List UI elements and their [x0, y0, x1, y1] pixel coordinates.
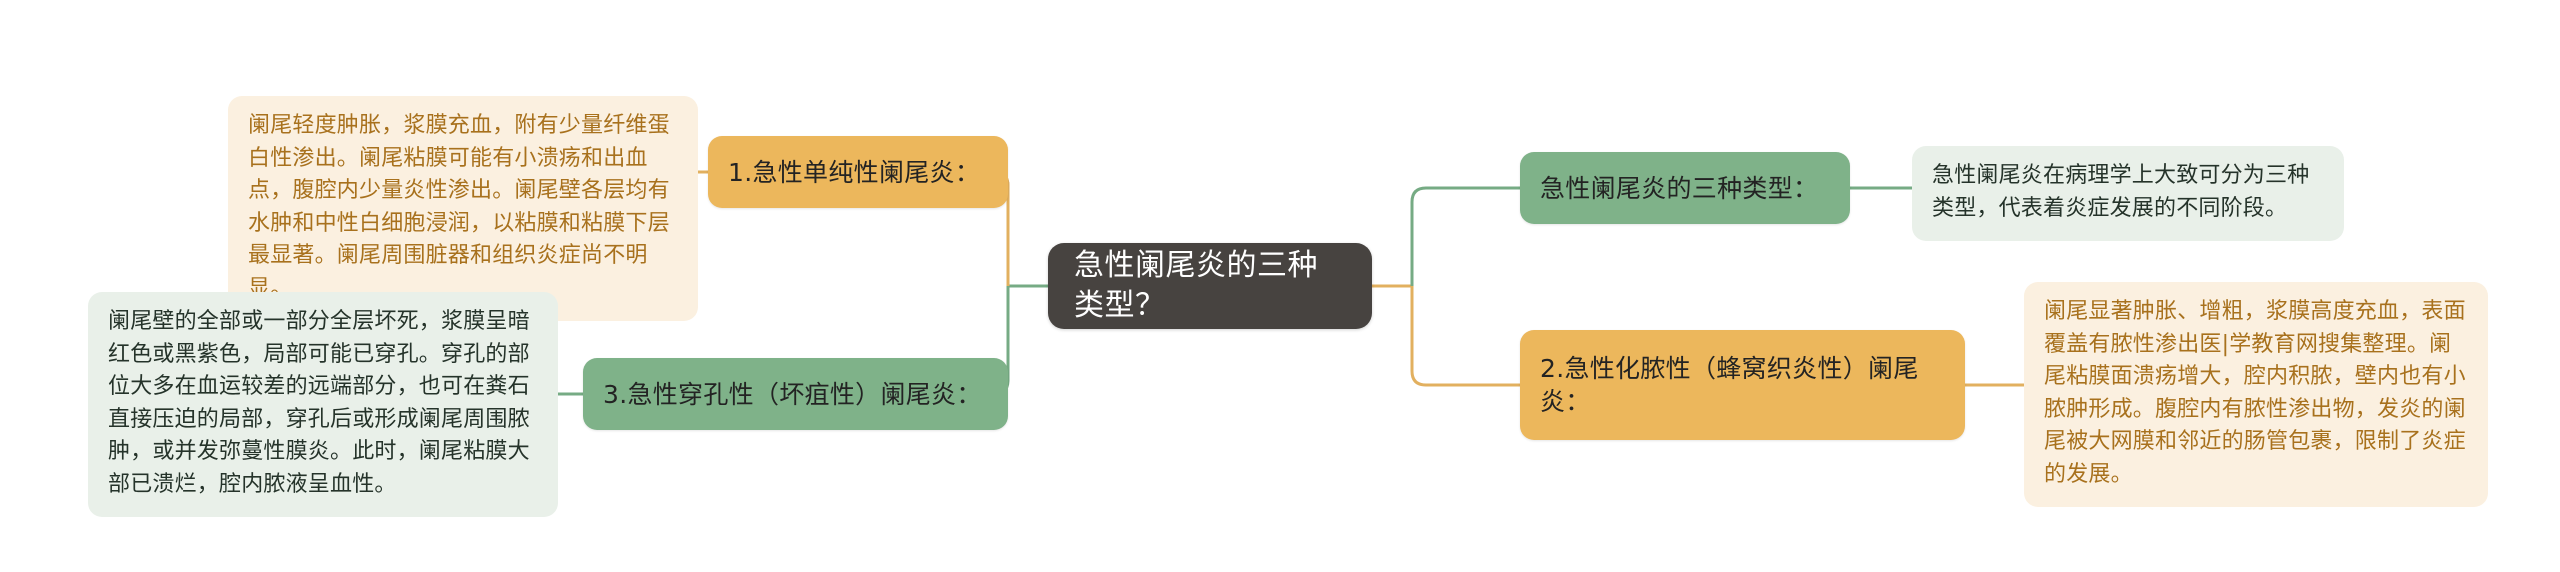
topic-node-label: 1.急性单纯性阑尾炎： [728, 156, 988, 189]
detail-panel-three-types-overview[interactable]: 急性阑尾炎在病理学上大致可分为三种类型，代表着炎症发展的不同阶段。 [1912, 146, 2344, 241]
topic-node-acute-perforated-appendicitis[interactable]: 3.急性穿孔性（坏疽性）阑尾炎： [583, 358, 1008, 430]
detail-panel-acute-suppurative-appendicitis[interactable]: 阑尾显著肿胀、增粗，浆膜高度充血，表面覆盖有脓性渗出医|学教育网搜集整理。阑尾粘… [2024, 282, 2488, 507]
detail-panel-text: 阑尾显著肿胀、增粗，浆膜高度充血，表面覆盖有脓性渗出医|学教育网搜集整理。阑尾粘… [2044, 296, 2468, 491]
detail-panel-text: 急性阑尾炎在病理学上大致可分为三种类型，代表着炎症发展的不同阶段。 [1932, 160, 2324, 225]
detail-panel-acute-simple-appendicitis[interactable]: 阑尾轻度肿胀，浆膜充血，附有少量纤维蛋白性渗出。阑尾粘膜可能有小溃疡和出血点，腹… [228, 96, 698, 321]
topic-node-label: 急性阑尾炎的三种类型： [1540, 172, 1830, 205]
topic-node-label: 3.急性穿孔性（坏疽性）阑尾炎： [603, 378, 988, 411]
root-node[interactable]: 急性阑尾炎的三种类型？ [1048, 243, 1372, 329]
topic-node-acute-simple-appendicitis[interactable]: 1.急性单纯性阑尾炎： [708, 136, 1008, 208]
topic-node-label: 2.急性化脓性（蜂窝织炎性）阑尾炎： [1540, 352, 1945, 418]
root-node-label: 急性阑尾炎的三种类型？ [1074, 246, 1346, 327]
mind-map-canvas: 急性阑尾炎的三种类型？ 1.急性单纯性阑尾炎： 阑尾轻度肿胀，浆膜充血，附有少量… [0, 0, 2560, 572]
detail-panel-text: 阑尾壁的全部或一部分全层坏死，浆膜呈暗红色或黑紫色，局部可能已穿孔。穿孔的部位大… [108, 306, 538, 501]
topic-node-acute-suppurative-appendicitis[interactable]: 2.急性化脓性（蜂窝织炎性）阑尾炎： [1520, 330, 1965, 440]
detail-panel-acute-perforated-appendicitis[interactable]: 阑尾壁的全部或一部分全层坏死，浆膜呈暗红色或黑紫色，局部可能已穿孔。穿孔的部位大… [88, 292, 558, 517]
detail-panel-text: 阑尾轻度肿胀，浆膜充血，附有少量纤维蛋白性渗出。阑尾粘膜可能有小溃疡和出血点，腹… [248, 110, 678, 305]
topic-node-three-types-overview[interactable]: 急性阑尾炎的三种类型： [1520, 152, 1850, 224]
